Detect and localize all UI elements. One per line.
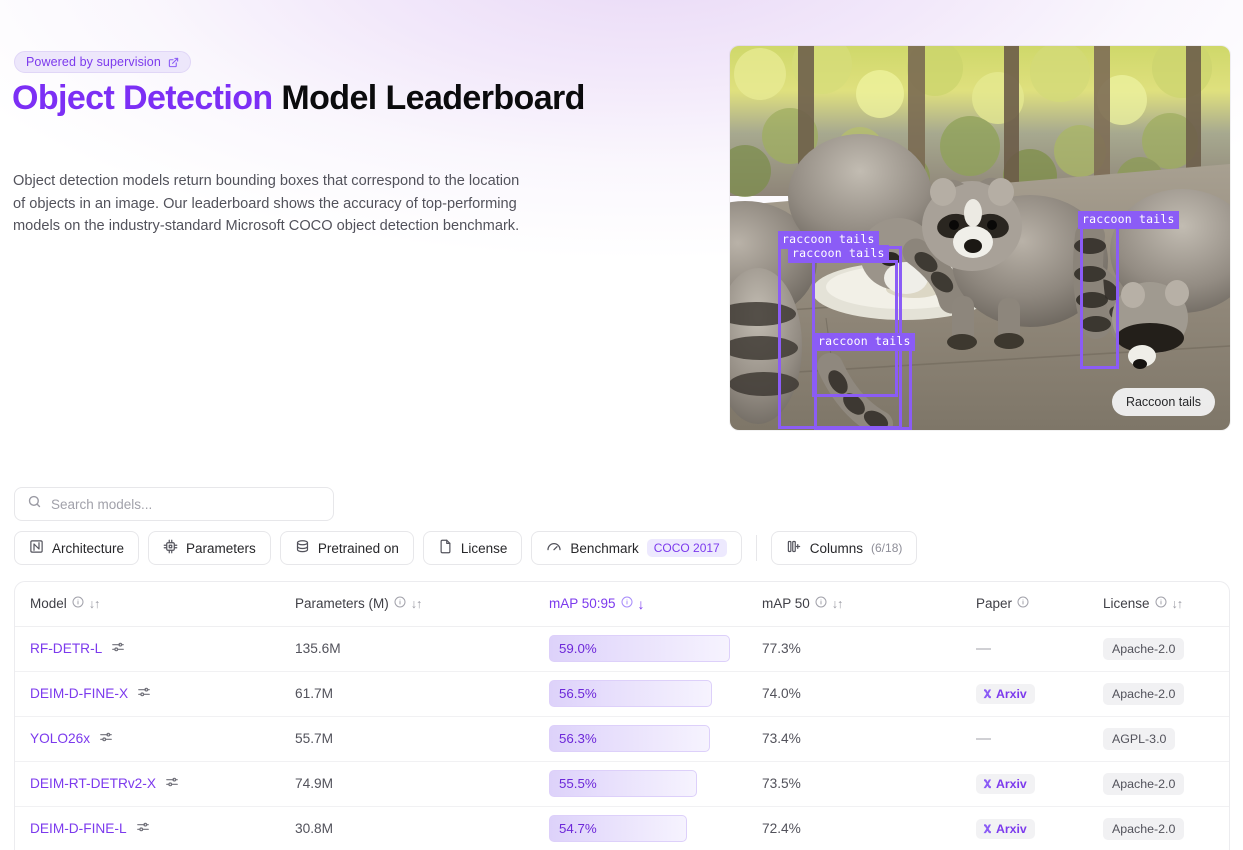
info-icon[interactable] xyxy=(621,596,633,611)
filter-pretrained-on-label: Pretrained on xyxy=(318,541,399,556)
column-header-model-label: Model xyxy=(30,596,67,611)
filter-architecture[interactable]: Architecture xyxy=(14,531,139,565)
model-link[interactable]: DEIM-D-FINE-L xyxy=(30,820,150,837)
model-name: YOLO26x xyxy=(30,731,90,746)
page-title: Object Detection Model Leaderboard xyxy=(12,78,652,119)
paper-empty: — xyxy=(976,640,991,657)
info-icon[interactable] xyxy=(1017,596,1029,611)
filter-parameters[interactable]: Parameters xyxy=(148,531,271,565)
columns-icon xyxy=(786,539,802,557)
license-badge: Apache-2.0 xyxy=(1103,638,1184,660)
license-badge: Apache-2.0 xyxy=(1103,818,1184,840)
cell-parameters: 30.8M xyxy=(295,806,549,850)
column-header-parameters-label: Parameters (M) xyxy=(295,596,389,611)
model-name: DEIM-D-FINE-L xyxy=(30,821,127,836)
paper-empty: — xyxy=(976,730,991,747)
sort-desc-icon[interactable]: ↓ xyxy=(638,596,644,612)
cell-map-50: 77.3% xyxy=(762,626,976,671)
map-value: 55.5% xyxy=(559,776,597,791)
info-icon[interactable] xyxy=(72,596,84,611)
cell-paper: — xyxy=(976,716,1103,761)
sliders-icon[interactable] xyxy=(137,685,151,702)
map-value: 54.7% xyxy=(559,821,597,836)
cell-paper: — xyxy=(976,626,1103,671)
detection-box xyxy=(1080,226,1119,369)
map-progress-bar: 54.7% xyxy=(549,815,687,842)
cell-parameters: 135.6M xyxy=(295,626,549,671)
sliders-icon[interactable] xyxy=(136,820,150,837)
powered-by-supervision-badge[interactable]: Powered by supervision xyxy=(14,51,191,73)
cell-model: RF-DETR-L xyxy=(15,626,295,671)
model-link[interactable]: YOLO26x xyxy=(30,730,113,747)
powered-by-supervision-label: Powered by supervision xyxy=(26,55,161,69)
cell-license: AGPL-3.0 xyxy=(1103,716,1230,761)
table-row[interactable]: DEIM-D-FINE-X61.7M56.5%74.0%𝛘ArxivApache… xyxy=(15,671,1230,716)
cell-parameters: 55.7M xyxy=(295,716,549,761)
external-link-icon xyxy=(168,57,179,68)
filter-architecture-label: Architecture xyxy=(52,541,124,556)
column-header-paper-label: Paper xyxy=(976,596,1012,611)
demo-class-chip: Raccoon tails xyxy=(1112,388,1215,416)
cell-model: YOLO26x xyxy=(15,716,295,761)
filter-divider xyxy=(756,535,757,561)
sliders-icon[interactable] xyxy=(111,640,125,657)
license-badge: Apache-2.0 xyxy=(1103,773,1184,795)
model-link[interactable]: DEIM-RT-DETRv2-X xyxy=(30,775,179,792)
columns-label: Columns xyxy=(810,541,863,556)
leaderboard-table-card: Model ↓↑ Parameters (M) ↓↑ xyxy=(14,581,1230,850)
table-row[interactable]: RF-DETR-L135.6M59.0%77.3%—Apache-2.0 xyxy=(15,626,1230,671)
column-header-license-label: License xyxy=(1103,596,1150,611)
table-body: RF-DETR-L135.6M59.0%77.3%—Apache-2.0DEIM… xyxy=(15,626,1230,850)
column-header-map-50[interactable]: mAP 50 ↓↑ xyxy=(762,582,976,626)
cell-map-50-95: 54.7% xyxy=(549,806,762,850)
arxiv-badge[interactable]: 𝛘Arxiv xyxy=(976,684,1035,704)
benchmark-pill: COCO 2017 xyxy=(647,539,727,557)
file-icon xyxy=(438,539,453,557)
filter-bar: Architecture Parameters Pretrained on Li… xyxy=(14,531,917,565)
filter-benchmark[interactable]: Benchmark COCO 2017 xyxy=(531,531,741,565)
detection-label: raccoon tails xyxy=(814,333,915,351)
page-title-accent: Object Detection xyxy=(12,79,273,117)
arxiv-badge[interactable]: 𝛘Arxiv xyxy=(976,774,1035,794)
search-box[interactable] xyxy=(14,487,334,521)
column-header-license[interactable]: License ↓↑ xyxy=(1103,582,1230,626)
info-icon[interactable] xyxy=(1155,596,1167,611)
cell-license: Apache-2.0 xyxy=(1103,806,1230,850)
column-header-parameters[interactable]: Parameters (M) ↓↑ xyxy=(295,582,549,626)
filter-license[interactable]: License xyxy=(423,531,523,565)
map-progress-bar: 56.3% xyxy=(549,725,710,752)
column-header-map-50-95-label: mAP 50:95 xyxy=(549,596,616,611)
map-value: 56.5% xyxy=(559,686,597,701)
license-badge: Apache-2.0 xyxy=(1103,683,1184,705)
cell-map-50: 73.4% xyxy=(762,716,976,761)
detection-box xyxy=(814,347,912,430)
cell-map-50: 72.4% xyxy=(762,806,976,850)
table-row[interactable]: DEIM-RT-DETRv2-X74.9M55.5%73.5%𝛘ArxivApa… xyxy=(15,761,1230,806)
cell-parameters: 61.7M xyxy=(295,671,549,716)
columns-count: (6/18) xyxy=(871,541,902,555)
table-header-row: Model ↓↑ Parameters (M) ↓↑ xyxy=(15,582,1230,626)
sort-icon[interactable]: ↓↑ xyxy=(89,597,100,611)
sort-icon[interactable]: ↓↑ xyxy=(1172,597,1183,611)
model-name: RF-DETR-L xyxy=(30,641,102,656)
column-header-map-50-95[interactable]: mAP 50:95 ↓ xyxy=(549,582,762,626)
arxiv-label: Arxiv xyxy=(996,777,1027,791)
sort-icon[interactable]: ↓↑ xyxy=(411,597,422,611)
cell-map-50-95: 56.3% xyxy=(549,716,762,761)
gauge-icon xyxy=(546,539,562,558)
database-icon xyxy=(295,539,310,557)
chip-icon xyxy=(163,539,178,557)
cell-map-50: 74.0% xyxy=(762,671,976,716)
search-icon xyxy=(27,494,42,514)
arxiv-icon: 𝛘 xyxy=(984,777,991,790)
detection-label: raccoon tails xyxy=(788,245,889,263)
arxiv-badge[interactable]: 𝛘Arxiv xyxy=(976,819,1035,839)
column-header-model[interactable]: Model ↓↑ xyxy=(15,582,295,626)
demo-image-card: raccoon tailsraccoon tailsraccoon tailsr… xyxy=(730,46,1230,430)
map-progress-bar: 56.5% xyxy=(549,680,712,707)
model-link[interactable]: DEIM-D-FINE-X xyxy=(30,685,151,702)
sort-icon[interactable]: ↓↑ xyxy=(832,597,843,611)
filter-parameters-label: Parameters xyxy=(186,541,256,556)
column-header-map-50-label: mAP 50 xyxy=(762,596,810,611)
sliders-icon[interactable] xyxy=(165,775,179,792)
page-title-rest: Model Leaderboard xyxy=(273,79,585,117)
search-input[interactable] xyxy=(51,497,321,512)
arxiv-label: Arxiv xyxy=(996,687,1027,701)
license-badge: AGPL-3.0 xyxy=(1103,728,1175,750)
filter-benchmark-label: Benchmark xyxy=(570,541,638,556)
table-row[interactable]: YOLO26x55.7M56.3%73.4%—AGPL-3.0 xyxy=(15,716,1230,761)
cell-model: DEIM-D-FINE-L xyxy=(15,806,295,850)
arxiv-icon: 𝛘 xyxy=(984,822,991,835)
info-icon[interactable] xyxy=(394,596,406,611)
cell-license: Apache-2.0 xyxy=(1103,761,1230,806)
leaderboard-table: Model ↓↑ Parameters (M) ↓↑ xyxy=(15,582,1230,850)
cell-map-50: 73.5% xyxy=(762,761,976,806)
detection-label: raccoon tails xyxy=(1078,211,1179,229)
map-progress-bar: 59.0% xyxy=(549,635,730,662)
cell-map-50-95: 59.0% xyxy=(549,626,762,671)
model-name: DEIM-RT-DETRv2-X xyxy=(30,776,156,791)
cell-parameters: 74.9M xyxy=(295,761,549,806)
info-icon[interactable] xyxy=(815,596,827,611)
cell-map-50-95: 55.5% xyxy=(549,761,762,806)
table-header: Model ↓↑ Parameters (M) ↓↑ xyxy=(15,582,1230,626)
hero-section: Powered by supervision Object Detection … xyxy=(0,0,1243,470)
cell-license: Apache-2.0 xyxy=(1103,626,1230,671)
table-row[interactable]: DEIM-D-FINE-L30.8M54.7%72.4%𝛘ArxivApache… xyxy=(15,806,1230,850)
map-progress-bar: 55.5% xyxy=(549,770,697,797)
columns-button[interactable]: Columns (6/18) xyxy=(771,531,918,565)
column-header-paper[interactable]: Paper xyxy=(976,582,1103,626)
cell-paper: 𝛘Arxiv xyxy=(976,671,1103,716)
arxiv-label: Arxiv xyxy=(996,822,1027,836)
map-value: 59.0% xyxy=(559,641,597,656)
model-link[interactable]: RF-DETR-L xyxy=(30,640,125,657)
cell-model: DEIM-D-FINE-X xyxy=(15,671,295,716)
filter-pretrained-on[interactable]: Pretrained on xyxy=(280,531,414,565)
filter-license-label: License xyxy=(461,541,508,556)
page-description: Object detection models return bounding … xyxy=(13,170,525,238)
cell-paper: 𝛘Arxiv xyxy=(976,806,1103,850)
map-value: 56.3% xyxy=(559,731,597,746)
cell-paper: 𝛘Arxiv xyxy=(976,761,1103,806)
architecture-icon xyxy=(29,539,44,557)
cell-model: DEIM-RT-DETRv2-X xyxy=(15,761,295,806)
cell-map-50-95: 56.5% xyxy=(549,671,762,716)
model-name: DEIM-D-FINE-X xyxy=(30,686,128,701)
sliders-icon[interactable] xyxy=(99,730,113,747)
cell-license: Apache-2.0 xyxy=(1103,671,1230,716)
arxiv-icon: 𝛘 xyxy=(984,687,991,700)
